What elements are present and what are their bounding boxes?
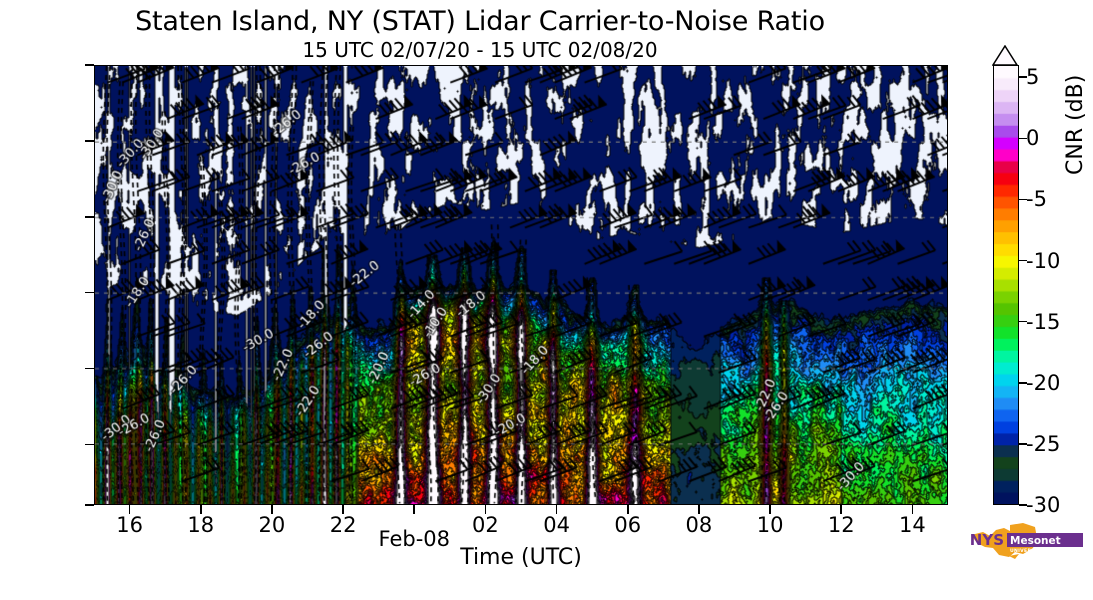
- y-tick-mark-0: [85, 504, 94, 506]
- y-tick-mark-2: [85, 368, 94, 370]
- x-axis-label: Time (UTC): [94, 545, 948, 570]
- figure-title: Staten Island, NY (STAT) Lidar Carrier-t…: [0, 6, 960, 37]
- x-tick-label-9: 10: [757, 513, 784, 537]
- x-tick-mark-6: [556, 505, 558, 514]
- x-tick-mark-5: [485, 505, 487, 514]
- x-tick-mark-4: [413, 505, 415, 514]
- plot-area: [94, 65, 948, 505]
- cnr-heatmap-canvas: [95, 66, 947, 504]
- colorbar-tick-mark-7: [1019, 504, 1027, 506]
- x-tick-mark-10: [840, 505, 842, 514]
- x-tick-label-10: 12: [828, 513, 855, 537]
- y-tick-mark-5: [85, 140, 94, 142]
- colorbar-tick-mark-0: [1019, 76, 1027, 78]
- x-tick-label-11: 14: [899, 513, 926, 537]
- colorbar-tick-label-2: -5: [1026, 187, 1047, 211]
- x-tick-mark-7: [627, 505, 629, 514]
- y-tick-mark-3: [85, 292, 94, 294]
- colorbar-tick-label-5: -20: [1026, 371, 1060, 395]
- colorbar-tick-mark-3: [1019, 260, 1027, 262]
- colorbar-extend-arrow: [992, 45, 1018, 66]
- y-tick-mark-4: [85, 216, 94, 218]
- x-tick-label-0: 16: [116, 513, 143, 537]
- x-tick-mark-1: [200, 505, 202, 514]
- x-tick-mark-0: [129, 505, 131, 514]
- y-tick-mark-6: [85, 64, 94, 66]
- colorbar-label: CNR (dB): [1063, 75, 1088, 175]
- colorbar-tick-mark-6: [1019, 443, 1027, 445]
- colorbar-tick-label-1: 0: [1026, 126, 1039, 150]
- nys-mesonet-logo: NYS Mesonet UNIVERSITY AT ALBANY: [963, 521, 1087, 567]
- colorbar-tick-mark-1: [1019, 138, 1027, 140]
- colorbar-tick-mark-5: [1019, 382, 1027, 384]
- x-tick-label-3: 22: [330, 513, 357, 537]
- colorbar-tick-mark-4: [1019, 321, 1027, 323]
- logo-mesonet-text: Mesonet: [1010, 535, 1061, 547]
- x-tick-label-7: 06: [614, 513, 641, 537]
- x-tick-label-6: 04: [543, 513, 570, 537]
- x-tick-label-2: 20: [259, 513, 286, 537]
- x-tick-mark-9: [769, 505, 771, 514]
- x-tick-mark-11: [912, 505, 914, 514]
- colorbar-tick-label-4: -15: [1026, 310, 1060, 334]
- x-tick-mark-2: [271, 505, 273, 514]
- lidar-cnr-figure: Staten Island, NY (STAT) Lidar Carrier-t…: [0, 0, 1093, 600]
- x-tick-label-4: Feb-08: [379, 527, 450, 551]
- colorbar: [993, 65, 1019, 505]
- x-tick-label-5: 02: [472, 513, 499, 537]
- x-tick-mark-8: [698, 505, 700, 514]
- figure-subtitle: 15 UTC 02/07/20 - 15 UTC 02/08/20: [0, 38, 960, 62]
- x-tick-mark-3: [342, 505, 344, 514]
- x-tick-label-1: 18: [187, 513, 214, 537]
- logo-tagline-text: UNIVERSITY AT ALBANY: [1010, 548, 1078, 554]
- colorbar-tick-label-6: -25: [1026, 432, 1060, 456]
- colorbar-tick-label-7: -30: [1026, 493, 1060, 517]
- colorbar-tick-label-3: -10: [1026, 249, 1060, 273]
- colorbar-tick-mark-2: [1019, 199, 1027, 201]
- y-tick-mark-1: [85, 444, 94, 446]
- colorbar-gradient: [993, 65, 1019, 505]
- colorbar-tick-label-0: 5: [1026, 65, 1039, 89]
- x-tick-label-8: 08: [686, 513, 713, 537]
- logo-nys-text: NYS: [970, 531, 1004, 549]
